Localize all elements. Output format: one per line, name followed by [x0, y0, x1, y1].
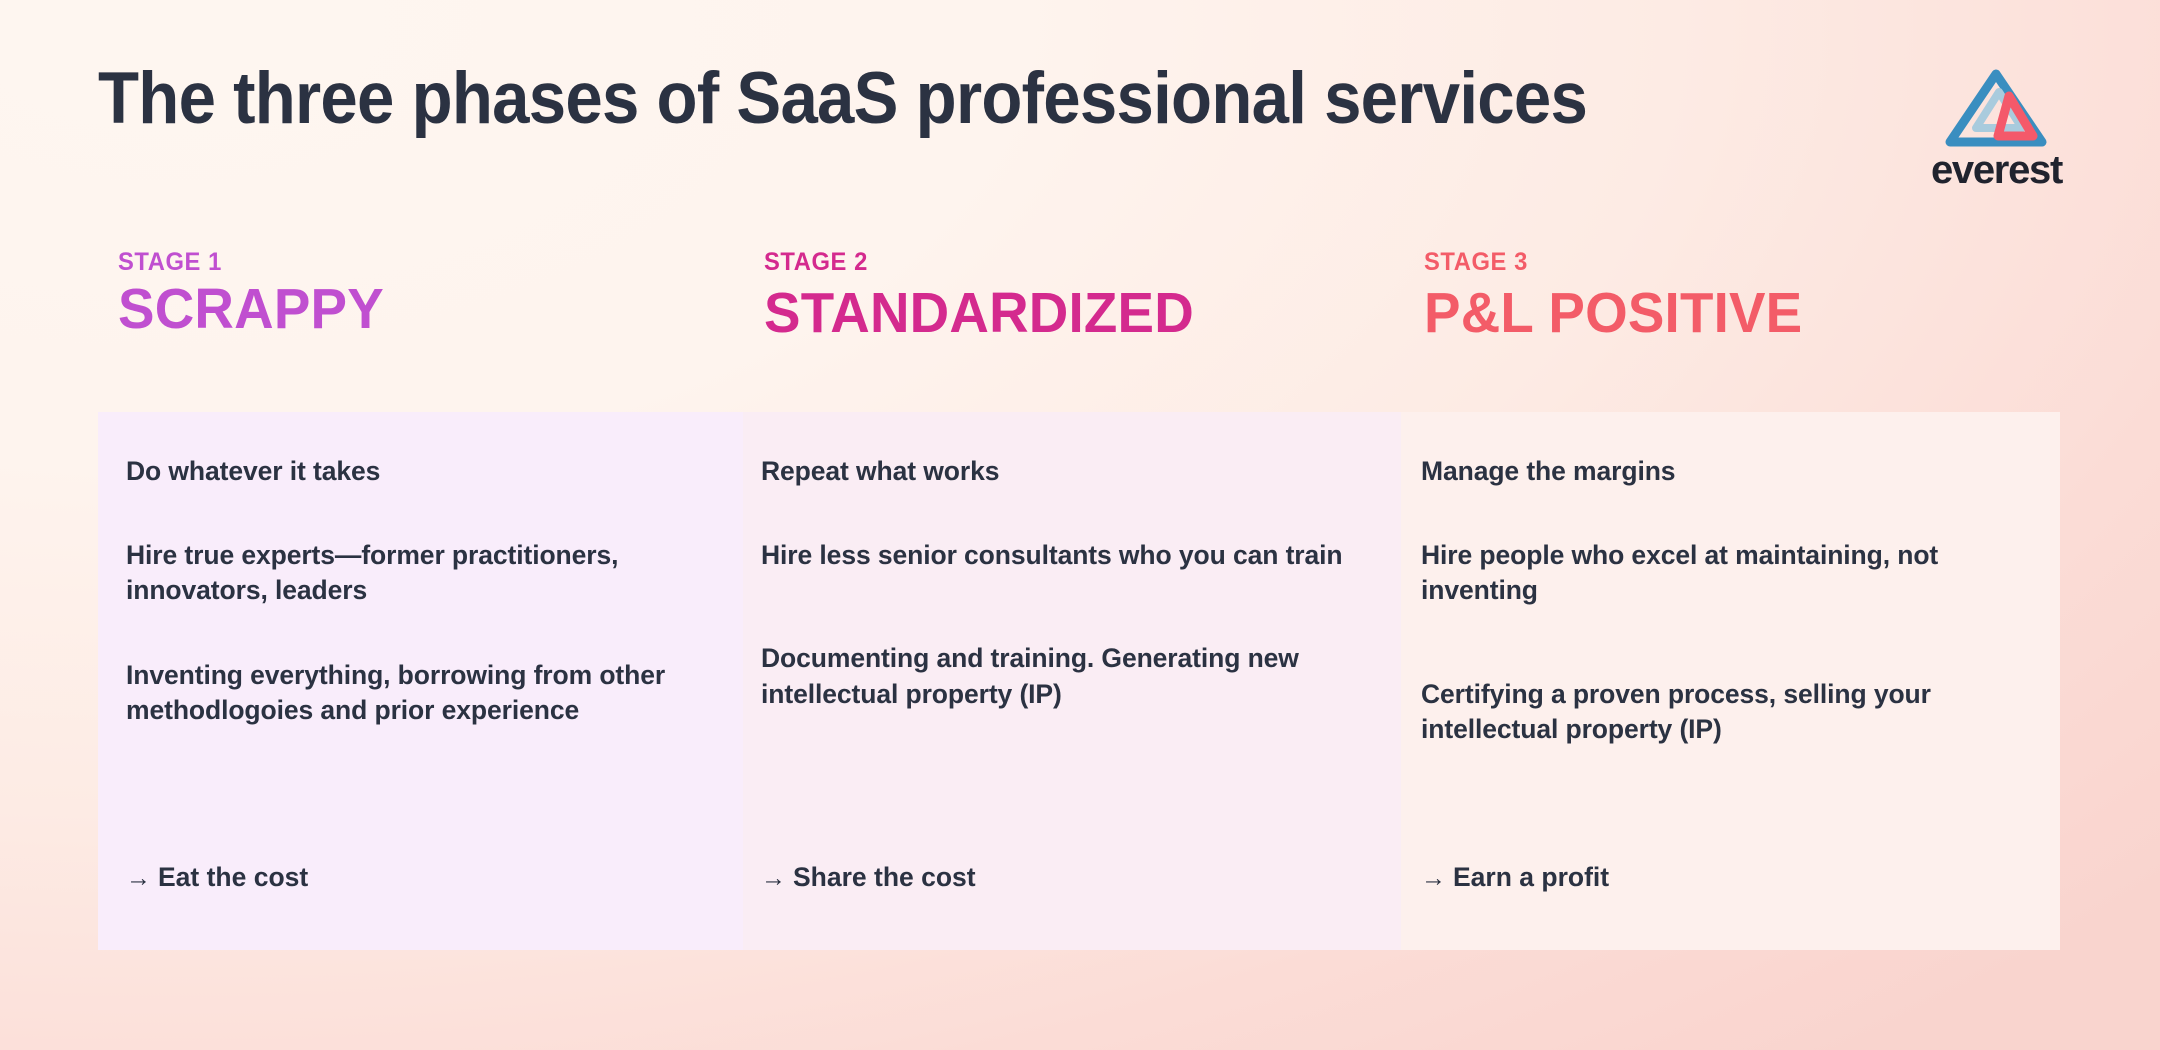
stage-heading-1: STAGE 1 SCRAPPY [98, 250, 746, 345]
arrow-right-icon: → [1421, 863, 1453, 893]
logo-wordmark: everest [1931, 150, 2062, 190]
everest-mountain-icon [1943, 68, 2049, 148]
stage-2-bullet-2: Hire less senior consultants who you can… [761, 538, 1345, 573]
stage-column-2: Repeat what works Hire less senior consu… [743, 412, 1401, 950]
page-title: The three phases of SaaS professional se… [98, 62, 1587, 136]
stage-2-name: STANDARDIZED [764, 283, 1340, 345]
stage-1-bullet-1: Do whatever it takes [126, 454, 687, 489]
stage-column-1: Do whatever it takes Hire true experts—f… [98, 412, 743, 950]
stage-3-bullet-1: Manage the margins [1421, 454, 2004, 489]
stage-2-outcome: →Share the cost [761, 862, 976, 894]
stage-2-bullet-1: Repeat what works [761, 454, 1345, 489]
arrow-right-icon: → [761, 863, 793, 893]
stage-3-bullet-2: Hire people who excel at maintaining, no… [1421, 538, 2004, 608]
stage-2-kicker: STAGE 2 [764, 250, 1334, 275]
stage-1-outcome-label: Eat the cost [158, 862, 308, 892]
stage-3-name: P&L POSITIVE [1424, 283, 1996, 345]
stage-heading-2: STAGE 2 STANDARDIZED [746, 250, 1404, 345]
stage-1-kicker: STAGE 1 [118, 250, 677, 275]
stage-3-kicker: STAGE 3 [1424, 250, 1990, 275]
stage-1-outcome: →Eat the cost [126, 862, 308, 894]
stage-1-bullet-2: Hire true experts—former practitioners, … [126, 538, 687, 608]
stage-heading-3: STAGE 3 P&L POSITIVE [1404, 250, 2060, 345]
stage-column-3: Manage the margins Hire people who excel… [1401, 412, 2060, 950]
stage-2-bullet-3: Documenting and training. Generating new… [761, 641, 1345, 711]
stage-3-outcome: →Earn a profit [1421, 862, 1609, 894]
stages-panel: Do whatever it takes Hire true experts—f… [98, 412, 2060, 950]
stage-1-bullet-3: Inventing everything, borrowing from oth… [126, 658, 687, 728]
stage-3-bullet-3: Certifying a proven process, selling you… [1421, 677, 2004, 747]
brand-logo[interactable]: everest [1931, 68, 2062, 190]
stage-3-outcome-label: Earn a profit [1453, 862, 1609, 892]
stage-1-name: SCRAPPY [118, 279, 682, 341]
stage-2-outcome-label: Share the cost [793, 862, 976, 892]
header: The three phases of SaaS professional se… [98, 62, 2068, 192]
arrow-right-icon: → [126, 863, 158, 893]
stage-headings-row: STAGE 1 SCRAPPY STAGE 2 STANDARDIZED STA… [98, 250, 2060, 345]
